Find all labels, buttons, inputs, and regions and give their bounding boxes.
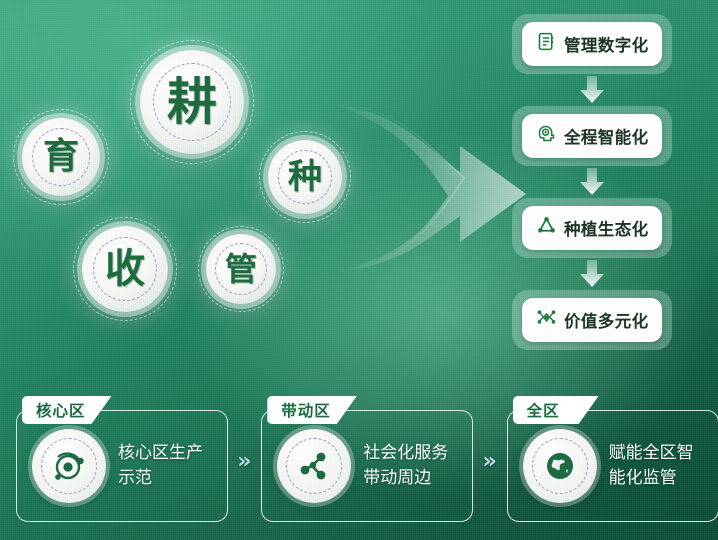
zone-line-2: 带动周边 [363,466,448,491]
ai-head-icon [536,123,557,149]
zone-line-1: 社会化服务 [363,441,448,466]
badge-yu: 育 [22,118,100,196]
badge-char: 种 [288,160,322,194]
flow-arrow-2 [512,166,672,198]
flow-step-value[interactable]: 价值多元化 [512,290,672,350]
network-nodes-icon [536,307,557,333]
zone-tab-label: 带动区 [281,399,331,421]
zone-line-1: 核心区生产 [118,441,203,466]
flow-step-label: 种植生态化 [564,216,649,240]
zone-description: 赋能全区智 能化监管 [609,441,694,490]
badge-char: 育 [43,139,79,175]
zone-tab-label: 核心区 [36,399,86,421]
recycle-eco-icon [536,215,557,241]
clipboard-document-icon [536,31,557,57]
converging-arrow [330,100,530,275]
flow-step-management[interactable]: 管理数字化 [512,14,672,74]
badge-char: 收 [105,249,145,289]
share-nodes-icon [277,429,351,503]
orbit-icon [32,429,106,503]
zone-card-core[interactable]: 核心区 核心区生产 示范 [16,396,227,526]
zone-card-whole[interactable]: 全区 赋能全区智 能化监管 [507,396,718,526]
flow-arrow-3 [512,258,672,290]
zone-description: 社会化服务 带动周边 [363,441,448,490]
zone-tab-label: 全区 [527,399,560,421]
flow-column: 管理数字化 全程智能化 [512,14,672,350]
zone-description: 核心区生产 示范 [118,441,203,490]
flow-arrow-1 [512,74,672,106]
zone-card-driving[interactable]: 带动区 社会化服务 带动周边 [261,396,472,526]
zone-card-row: 核心区 核心区生产 示范 [0,396,718,536]
flow-step-intelligent[interactable]: 全程智能化 [512,106,672,166]
badge-geng: 耕 [140,50,244,154]
flow-step-label: 价值多元化 [564,308,649,332]
flow-step-ecological[interactable]: 种植生态化 [512,198,672,258]
zone-separator-2: » [473,396,507,526]
badge-guan: 管 [206,234,276,304]
badge-shou: 收 [82,226,168,312]
zone-line-2: 能化监管 [609,466,694,491]
badge-char: 管 [225,253,257,285]
infographic-canvas: 耕 育 种 收 管 [0,0,718,540]
badge-zhong: 种 [268,140,342,214]
zone-line-1: 赋能全区智 [609,441,694,466]
globe-icon [523,429,597,503]
flow-step-label: 全程智能化 [564,124,649,148]
badge-char: 耕 [167,77,217,127]
zone-separator-1: » [227,396,261,526]
flow-step-label: 管理数字化 [564,32,649,56]
zone-line-2: 示范 [118,466,203,491]
